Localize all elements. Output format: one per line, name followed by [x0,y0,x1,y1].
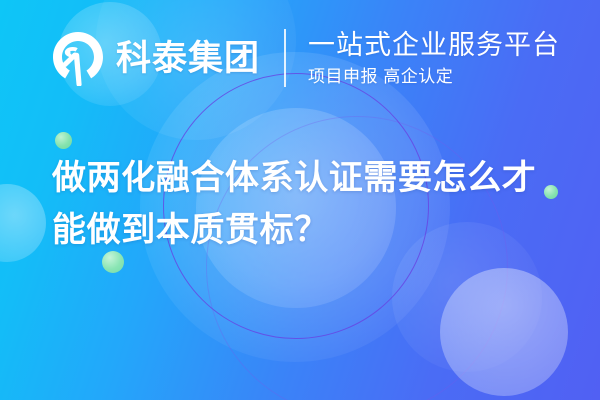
tagline-block: 一站式企业服务平台 项目申报 高企认定 [308,32,560,85]
vertical-divider [284,29,286,87]
bubble-bottom-right [440,268,568,396]
banner-header: 科泰集团 一站式企业服务平台 项目申报 高企认定 [0,18,600,98]
green-dot [55,132,72,149]
brand-name: 科泰集团 [116,41,260,76]
tagline-sub: 项目申报 高企认定 [308,68,560,85]
brand-lockup: 科泰集团 [50,30,260,86]
bubble-left [0,184,46,262]
ketai-circle-logo-icon [50,30,106,86]
promo-banner: 科泰集团 一站式企业服务平台 项目申报 高企认定 做两化融合体系认证需要怎么才能… [0,0,600,400]
tagline-main: 一站式企业服务平台 [308,32,560,59]
page-title: 做两化融合体系认证需要怎么才能做到本质贯标？ [52,152,552,256]
